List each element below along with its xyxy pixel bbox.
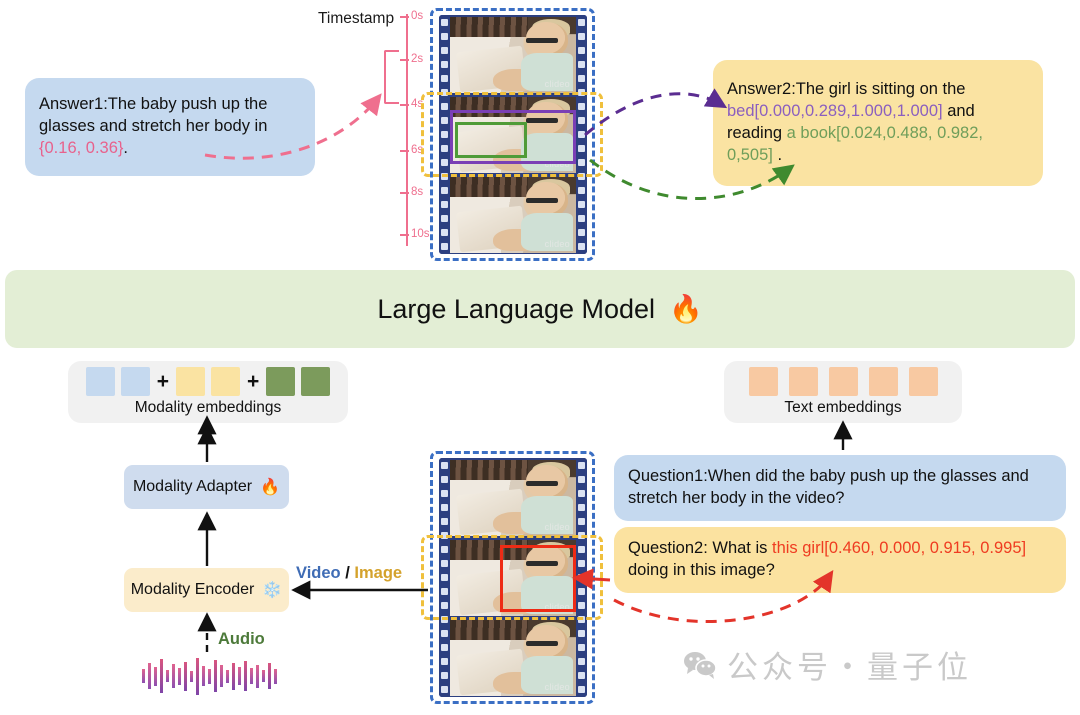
audio-embedding-square xyxy=(301,367,330,396)
large-language-model-band: Large Language Model 🔥 xyxy=(5,270,1075,348)
axis-tick-5 xyxy=(400,234,409,236)
fire-icon: 🔥 xyxy=(669,293,703,325)
axis-tick-label-0: 0s xyxy=(411,11,423,23)
modality-encoder-box[interactable]: Modality Encoder ❄️ xyxy=(124,568,289,612)
axis-tick-0 xyxy=(400,16,409,18)
question2-text: Question2: What is xyxy=(628,539,772,557)
modality-embeddings-caption: Modality embeddings xyxy=(135,399,281,417)
video-embedding-square xyxy=(121,367,150,396)
image-embedding-square xyxy=(211,367,240,396)
answer1-timespan: {0.16, 0.36} xyxy=(39,139,123,157)
audio-embedding-square xyxy=(266,367,295,396)
clideo-watermark: clideo xyxy=(545,79,570,89)
plus-sign-1: + xyxy=(157,371,169,392)
axis-tick-3 xyxy=(400,150,409,152)
video-embedding-square xyxy=(86,367,115,396)
axis-tick-4 xyxy=(400,192,409,194)
question2-girl-box: this girl[0.460, 0.000, 0.915, 0.995] xyxy=(772,539,1026,557)
video-label: Video xyxy=(296,564,341,582)
book-bounding-box xyxy=(455,122,527,158)
text-embedding-square xyxy=(749,367,778,396)
question2-suffix: doing in this image? xyxy=(628,561,775,579)
plus-sign-2: + xyxy=(247,371,259,392)
text-embeddings-caption: Text embeddings xyxy=(784,399,901,417)
timestamp-highlight-bracket xyxy=(384,50,399,104)
label-separator: / xyxy=(341,564,355,582)
text-embedding-square xyxy=(869,367,898,396)
answer2-bubble: Answer2:The girl is sitting on the bed[0… xyxy=(713,60,1043,186)
axis-tick-label-4: 8s xyxy=(411,187,423,199)
audio-label: Audio xyxy=(218,630,265,649)
fire-icon: 🔥 xyxy=(260,477,280,497)
modality-embeddings-row: + + xyxy=(86,367,331,396)
answer2-text: Answer2:The girl is sitting on the xyxy=(727,80,965,98)
answer1-bubble: Answer1:The baby push up the glasses and… xyxy=(25,78,315,176)
snowflake-icon: ❄️ xyxy=(262,580,282,600)
axis-tick-label-1: 2s xyxy=(411,54,423,66)
watermark-text: 公众号・量子位 xyxy=(727,642,972,687)
axis-tick-label-5: 10s xyxy=(411,229,430,241)
axis-tick-1 xyxy=(400,59,409,61)
top-frame-3: clideo xyxy=(450,177,576,253)
question1-text: Question1:When did the baby push up the … xyxy=(628,466,1052,510)
bottom-frame-3: clideo xyxy=(450,620,576,696)
image-embedding-square xyxy=(176,367,205,396)
answer2-suffix: . xyxy=(773,146,782,164)
modality-encoder-label: Modality Encoder xyxy=(131,581,255,599)
clideo-watermark: clideo xyxy=(545,522,570,532)
wechat-watermark: 公众号・量子位 xyxy=(683,642,972,687)
clideo-watermark: clideo xyxy=(545,239,570,249)
text-embeddings-panel: Text embeddings xyxy=(724,361,962,423)
text-embeddings-row xyxy=(749,367,938,396)
timestamp-label: Timestamp xyxy=(318,10,394,28)
video-image-label: Video / Image xyxy=(296,564,402,583)
text-embedding-square xyxy=(909,367,938,396)
modality-adapter-label: Modality Adapter xyxy=(133,478,252,496)
bed-box-to-answer2-arrow xyxy=(585,94,722,135)
image-label: Image xyxy=(354,564,402,582)
bottom-frame-1: clideo xyxy=(450,460,576,536)
text-embedding-square xyxy=(829,367,858,396)
answer2-bed-box: bed[0.000,0.289,1.000,1.000] xyxy=(727,102,943,120)
modality-embeddings-panel: + + Modality embeddings xyxy=(68,361,348,423)
question1-bubble: Question1:When did the baby push up the … xyxy=(614,455,1066,521)
text-embedding-square xyxy=(789,367,818,396)
llm-title: Large Language Model xyxy=(377,294,655,325)
timestamp-axis-line xyxy=(406,14,408,246)
wechat-icon xyxy=(683,651,717,679)
top-frame-1: clideo xyxy=(450,17,576,93)
answer1-suffix: . xyxy=(123,139,128,157)
question2-bubble: Question2: What is this girl[0.460, 0.00… xyxy=(614,527,1066,593)
audio-waveform xyxy=(142,655,280,697)
girl-bounding-box xyxy=(500,545,576,612)
axis-tick-2 xyxy=(400,104,409,106)
modality-adapter-box[interactable]: Modality Adapter 🔥 xyxy=(124,465,289,509)
answer1-text: Answer1:The baby push up the glasses and… xyxy=(39,95,267,135)
clideo-watermark: clideo xyxy=(545,682,570,692)
